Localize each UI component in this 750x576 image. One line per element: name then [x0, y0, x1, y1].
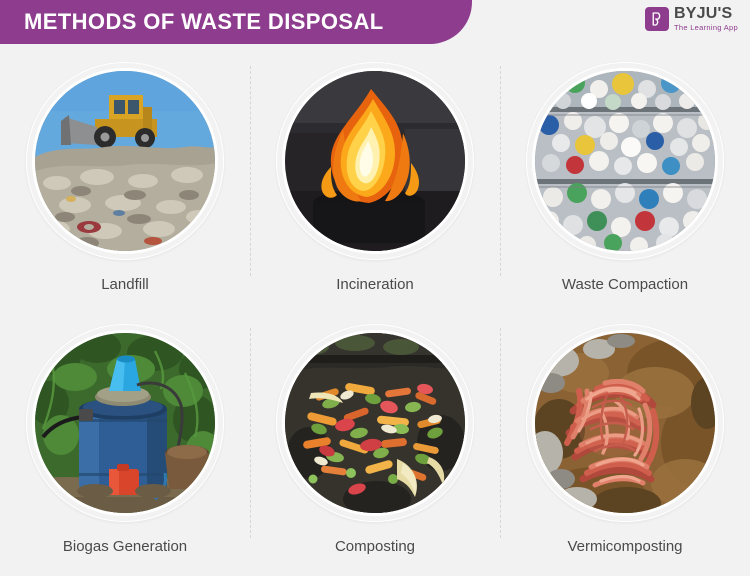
page-title: METHODS OF WASTE DISPOSAL	[0, 9, 384, 35]
waste-compaction-photo	[535, 71, 715, 251]
logo-name: BYJU'S	[674, 6, 738, 22]
byjus-logo[interactable]: BYJU'S The Learning App	[645, 6, 738, 32]
method-card-landfill[interactable]: Landfill	[0, 52, 250, 314]
method-label: Biogas Generation	[63, 538, 187, 555]
photo-ring	[276, 324, 474, 522]
method-card-waste-compaction[interactable]: Waste Compaction	[500, 52, 750, 314]
incineration-photo	[285, 71, 465, 251]
method-label: Composting	[335, 538, 415, 555]
title-banner: METHODS OF WASTE DISPOSAL	[0, 0, 472, 44]
method-label: Landfill	[101, 276, 149, 293]
page-header: METHODS OF WASTE DISPOSAL BYJU'S The Lea…	[0, 0, 750, 46]
vermicomposting-photo	[535, 333, 715, 513]
photo-ring	[526, 62, 724, 260]
method-card-vermicomposting[interactable]: Vermicomposting	[500, 314, 750, 576]
method-card-composting[interactable]: Composting	[250, 314, 500, 576]
photo-ring	[26, 62, 224, 260]
biogas-generation-photo	[35, 333, 215, 513]
method-label: Waste Compaction	[562, 276, 688, 293]
photo-ring	[26, 324, 224, 522]
photo-ring	[526, 324, 724, 522]
logo-tagline: The Learning App	[674, 24, 738, 32]
method-label: Vermicomposting	[567, 538, 682, 555]
composting-photo	[285, 333, 465, 513]
landfill-photo	[35, 71, 215, 251]
method-label: Incineration	[336, 276, 414, 293]
photo-ring	[276, 62, 474, 260]
method-card-biogas-generation[interactable]: Biogas Generation	[0, 314, 250, 576]
methods-grid: Landfill	[0, 52, 750, 576]
byjus-logo-icon	[645, 7, 669, 31]
byjus-wordmark: BYJU'S The Learning App	[674, 6, 738, 32]
method-card-incineration[interactable]: Incineration	[250, 52, 500, 314]
